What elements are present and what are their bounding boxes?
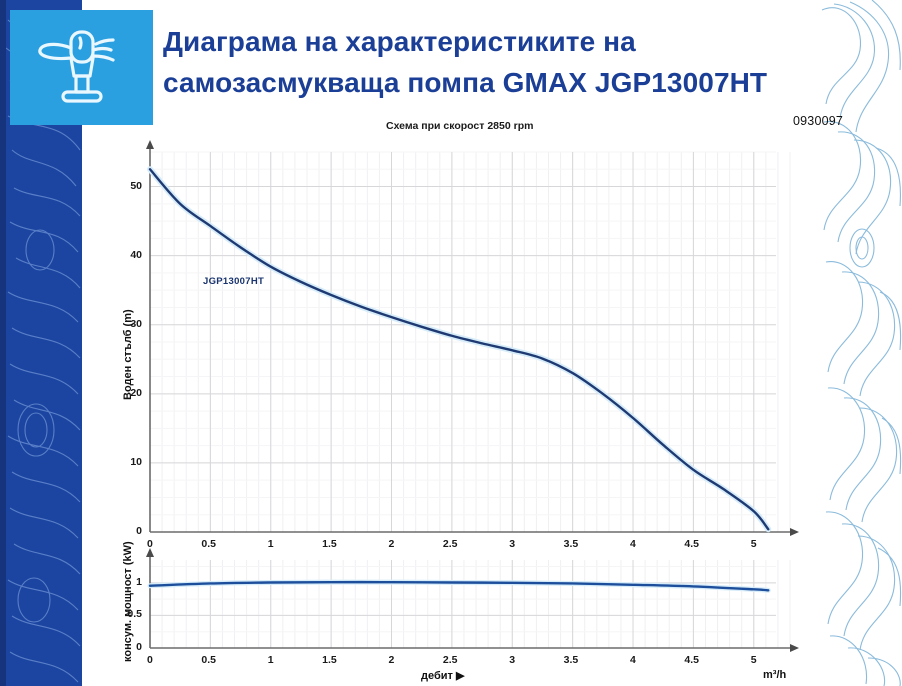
power-xtick-4: 4 xyxy=(630,654,636,666)
head-xtick-0.5: 0.5 xyxy=(201,538,216,550)
head-ytick-30: 30 xyxy=(116,318,142,330)
power-minor-gridlines xyxy=(150,560,790,648)
head-xtick-3: 3 xyxy=(509,538,515,550)
power-xtick-0: 0 xyxy=(147,654,153,666)
flow-unit-label: m³/h xyxy=(763,669,786,681)
power-xtick-2.5: 2.5 xyxy=(443,654,458,666)
head-xtick-0: 0 xyxy=(147,538,153,550)
power-xtick-1: 1 xyxy=(268,654,274,666)
head-xtick-1.5: 1.5 xyxy=(322,538,337,550)
diagram-page: Диаграма на характеристиките на самозасм… xyxy=(0,0,902,686)
power-ytick-0.5: 0.5 xyxy=(116,608,142,620)
head-xtick-2: 2 xyxy=(389,538,395,550)
head-ytick-20: 20 xyxy=(116,387,142,399)
power-xtick-4.5: 4.5 xyxy=(684,654,699,666)
head-xtick-5: 5 xyxy=(751,538,757,550)
power-xtick-5: 5 xyxy=(751,654,757,666)
head-ytick-0: 0 xyxy=(116,525,142,537)
head-ytick-50: 50 xyxy=(116,180,142,192)
power-ytick-0: 0 xyxy=(116,641,142,653)
flow-axis-title: дебит ▶ xyxy=(421,669,464,682)
head-xtick-4: 4 xyxy=(630,538,636,550)
power-xtick-3.5: 3.5 xyxy=(564,654,579,666)
data-curves xyxy=(150,169,768,590)
head-curve-path-halo xyxy=(150,169,768,529)
head-xtick-4.5: 4.5 xyxy=(684,538,699,550)
head-xtick-2.5: 2.5 xyxy=(443,538,458,550)
power-xtick-2: 2 xyxy=(389,654,395,666)
power-ytick-1: 1 xyxy=(116,576,142,588)
series-label-jgp13007ht: JGP13007HT xyxy=(203,276,264,287)
power-xtick-0.5: 0.5 xyxy=(201,654,216,666)
head-xtick-3.5: 3.5 xyxy=(564,538,579,550)
head-ytick-40: 40 xyxy=(116,249,142,261)
head-xtick-1: 1 xyxy=(268,538,274,550)
head-ytick-10: 10 xyxy=(116,456,142,468)
pump-performance-chart: Воден стълб (m) консум. мощност (kW) деб… xyxy=(0,0,902,686)
power-xtick-1.5: 1.5 xyxy=(322,654,337,666)
head-curve-path xyxy=(150,169,768,529)
axis-lines xyxy=(146,140,799,652)
power-xtick-3: 3 xyxy=(509,654,515,666)
power-major-gridlines xyxy=(150,560,776,648)
